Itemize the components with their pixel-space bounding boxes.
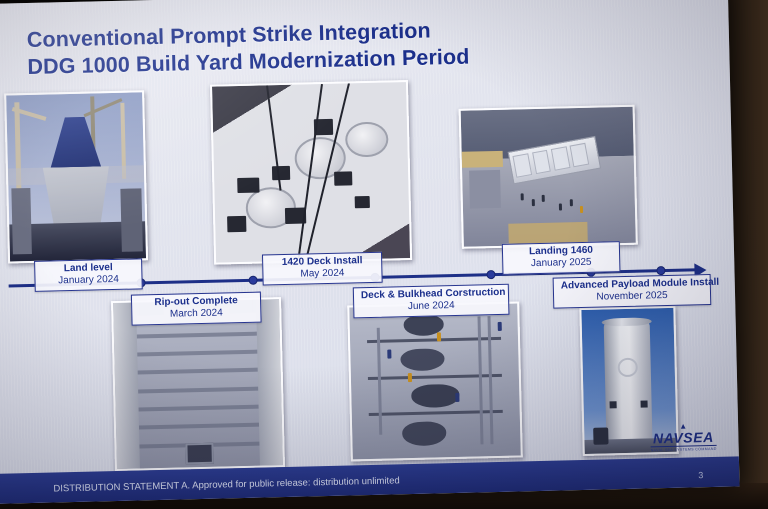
navsea-subtitle: NAVAL SEA SYSTEMS COMMAND: [651, 447, 717, 453]
caption-date: May 2024: [270, 267, 374, 281]
caption-title: 1420 Deck Install: [270, 255, 374, 269]
page-title: Conventional Prompt Strike Integration D…: [27, 17, 470, 82]
navsea-wordmark: NAVSEA: [650, 429, 716, 445]
caption-date: January 2024: [42, 273, 134, 287]
photo-land-level: [4, 90, 148, 263]
caption-date: January 2025: [510, 256, 612, 270]
slide-number: 3: [698, 470, 703, 480]
projected-slide-photo: Conventional Prompt Strike Integration D…: [0, 0, 768, 509]
navsea-logo: ▲ NAVSEA NAVAL SEA SYSTEMS COMMAND: [650, 423, 717, 452]
timeline-marker-rip-out-complete[interactable]: [248, 275, 257, 284]
caption-deck-bulkhead-construction: Deck & Bulkhead Corstruction June 2024: [353, 284, 510, 318]
timeline-marker-deck-bulkhead-construction[interactable]: [486, 270, 495, 279]
photo-deck-bulkhead-construction: [347, 301, 523, 461]
caption-land-level: Land level January 2024: [34, 258, 143, 291]
presentation-slide: Conventional Prompt Strike Integration D…: [0, 0, 740, 504]
caption-1420-deck-install: 1420 Deck Install May 2024: [262, 252, 383, 285]
photo-landing-1460: [459, 105, 638, 249]
caption-landing-1460: Landing 1460 January 2025: [502, 241, 621, 274]
slide-surface: Conventional Prompt Strike Integration D…: [0, 0, 740, 509]
photo-1420-deck-install: [210, 80, 412, 265]
caption-rip-out-complete: Rip-out Complete March 2024: [131, 292, 262, 326]
caption-advanced-payload-module-install: Advanced Payload Module Install November…: [553, 274, 712, 308]
timeline-marker-advanced-payload-module[interactable]: [656, 266, 665, 275]
